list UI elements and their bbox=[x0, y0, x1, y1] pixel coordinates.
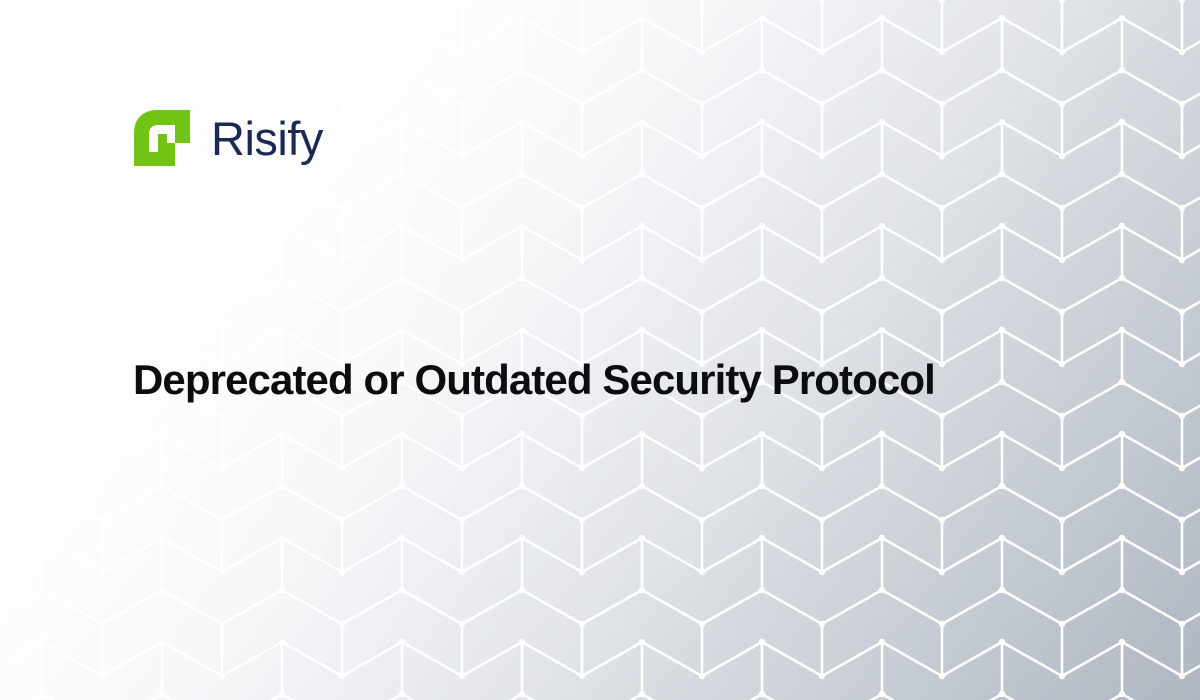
brand-lockup: Risify bbox=[131, 107, 323, 169]
title-slide: Risify Deprecated or Outdated Security P… bbox=[0, 0, 1200, 700]
risify-logo-mark-icon bbox=[131, 107, 193, 169]
slide-content: Risify Deprecated or Outdated Security P… bbox=[0, 0, 1200, 700]
brand-name: Risify bbox=[211, 115, 323, 162]
page-title: Deprecated or Outdated Security Protocol bbox=[133, 352, 963, 407]
